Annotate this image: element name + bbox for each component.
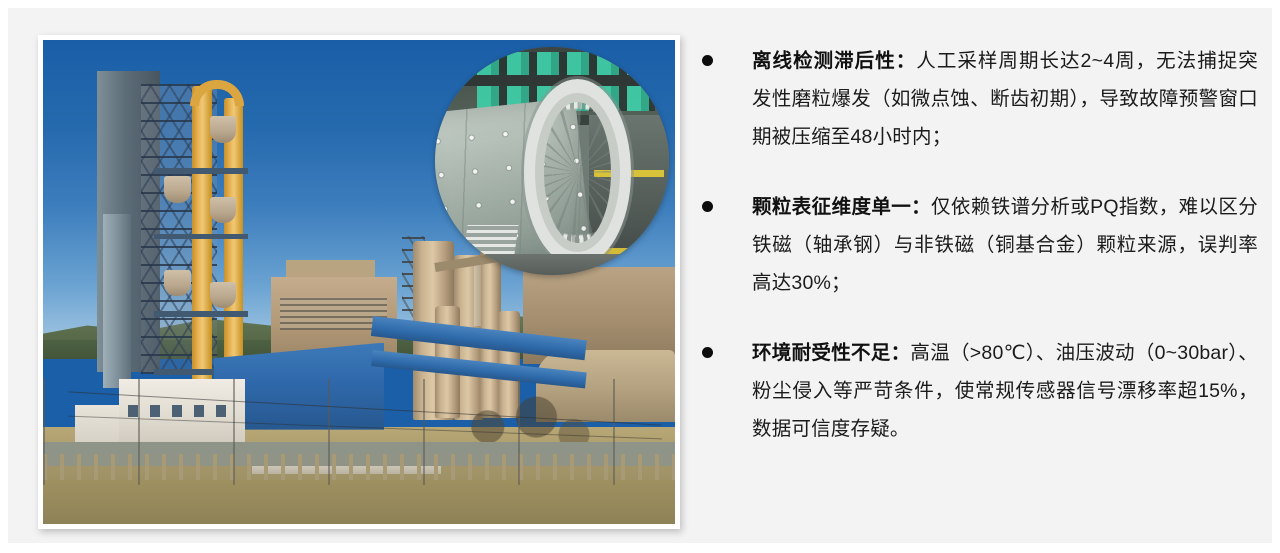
cyclone-1 [210, 116, 237, 142]
platform-3 [154, 311, 249, 317]
inset-floor [435, 254, 669, 274]
cyclone-4 [164, 270, 191, 296]
ball-mill-inset [435, 47, 669, 274]
bullet-title-3: 环境耐受性不足： [752, 342, 910, 364]
left-stack [103, 214, 131, 388]
bullet-dot-icon [702, 347, 713, 358]
bullet-text-3: 环境耐受性不足：高温（>80℃）、油压波动（0~30bar）、粉尘侵入等严苛条件… [752, 334, 1258, 448]
photo-card [38, 35, 680, 529]
list-item: 环境耐受性不足：高温（>80℃）、油压波动（0~30bar）、粉尘侵入等严苛条件… [702, 334, 1258, 448]
cyclone-3 [210, 197, 237, 223]
cement-plant-photo [43, 40, 675, 524]
platform-2 [154, 234, 249, 240]
cyclone-5 [210, 282, 237, 308]
mill-gear-inner-ring [535, 93, 619, 252]
bullet-text-1: 离线检测滞后性：人工采样周期长达2~4周，无法捕捉突发性磨粒爆发（如微点蚀、断齿… [752, 42, 1258, 156]
bullet-list: 离线检测滞后性：人工采样周期长达2~4周，无法捕捉突发性磨粒爆发（如微点蚀、断齿… [702, 42, 1258, 448]
bullet-title-1: 离线检测滞后性： [752, 50, 916, 72]
list-item: 离线检测滞后性：人工采样周期长达2~4周，无法捕捉突发性磨粒爆发（如微点蚀、断齿… [702, 42, 1258, 156]
platform-1 [154, 168, 249, 174]
bullet-title-2: 颗粒表征维度单一： [752, 196, 931, 218]
bullet-dot-icon [702, 55, 713, 66]
inset-beam-upper [435, 75, 669, 86]
list-item: 颗粒表征维度单一：仅依赖铁谱分析或PQ指数，难以区分铁磁（轴承钢）与非铁磁（铜基… [702, 188, 1258, 302]
bullet-dot-icon [702, 201, 713, 212]
bullet-text-2: 颗粒表征维度单一：仅依赖铁谱分析或PQ指数，难以区分铁磁（轴承钢）与非铁磁（铜基… [752, 188, 1258, 302]
slide-canvas: 离线检测滞后性：人工采样周期长达2~4周，无法捕捉突发性磨粒爆发（如微点蚀、断齿… [8, 8, 1272, 543]
cyclone-2 [164, 176, 191, 202]
